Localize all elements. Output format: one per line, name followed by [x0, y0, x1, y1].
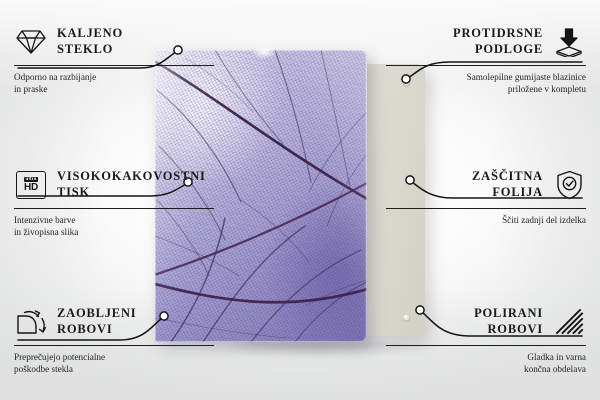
- feature-subtitle: Intenzivne barve in živopisna slika: [14, 214, 214, 239]
- feature-high-quality-print: ultra HD VISOKOKAKOVOSTNI TISK Intenzivn…: [14, 165, 214, 239]
- ultra-hd-badge-icon: ultra HD: [14, 168, 48, 202]
- feature-subtitle: Samolepilne gumijaste blazinice priložen…: [386, 71, 586, 96]
- feature-divider: [14, 65, 214, 66]
- rounded-corner-icon: [14, 305, 48, 339]
- feature-header: KALJENO STEKLO: [14, 22, 214, 62]
- feature-header: POLIRANI ROBOVI: [386, 302, 586, 342]
- feature-anti-slip-pads: PROTIDRSNE PODLOGE Samolepilne gumijaste…: [386, 22, 586, 96]
- feature-title: ZAOBLJENI ROBOVI: [57, 306, 136, 338]
- feature-divider: [14, 345, 214, 346]
- shield-check-icon: [552, 168, 586, 202]
- feature-divider: [386, 65, 586, 66]
- feature-divider: [14, 208, 214, 209]
- hd-badge-box: ultra HD: [16, 171, 46, 199]
- hd-badge-large-label: HD: [24, 183, 38, 193]
- feature-subtitle: Preprečujejo potencialne poškodbe stekla: [14, 351, 214, 376]
- press-down-pad-icon: [552, 25, 586, 59]
- feature-title: VISOKOKAKOVOSTNI TISK: [57, 169, 206, 201]
- feature-divider: [386, 208, 586, 209]
- diagonal-stripes-icon: [552, 305, 586, 339]
- feature-title: KALJENO STEKLO: [57, 26, 123, 58]
- feature-subtitle: Odporno na razbijanje in praske: [14, 71, 214, 96]
- feature-divider: [386, 345, 586, 346]
- feature-subtitle: Gladka in varna končna obdelava: [386, 351, 586, 376]
- feature-subtitle: Ščiti zadnji del izdelka: [386, 214, 586, 226]
- feature-title: ZAŠČITNA FOLIJA: [472, 169, 543, 201]
- feature-title: PROTIDRSNE PODLOGE: [453, 26, 543, 58]
- feature-header: ZAOBLJENI ROBOVI: [14, 302, 214, 342]
- feature-protective-film: ZAŠČITNA FOLIJA Ščiti zadnji del izdelka: [386, 165, 586, 226]
- feature-title: POLIRANI ROBOVI: [474, 306, 543, 338]
- feature-polished-edges: POLIRANI ROBOVI Gladka in varna končna o…: [386, 302, 586, 376]
- feature-header: ZAŠČITNA FOLIJA: [386, 165, 586, 205]
- feature-header: ultra HD VISOKOKAKOVOSTNI TISK: [14, 165, 214, 205]
- feature-tempered-glass: KALJENO STEKLO Odporno na razbijanje in …: [14, 22, 214, 96]
- feature-rounded-edges: ZAOBLJENI ROBOVI Preprečujejo potencialn…: [14, 302, 214, 376]
- infographic-canvas: KALJENO STEKLO Odporno na razbijanje in …: [0, 0, 600, 400]
- diamond-icon: [14, 25, 48, 59]
- feature-header: PROTIDRSNE PODLOGE: [386, 22, 586, 62]
